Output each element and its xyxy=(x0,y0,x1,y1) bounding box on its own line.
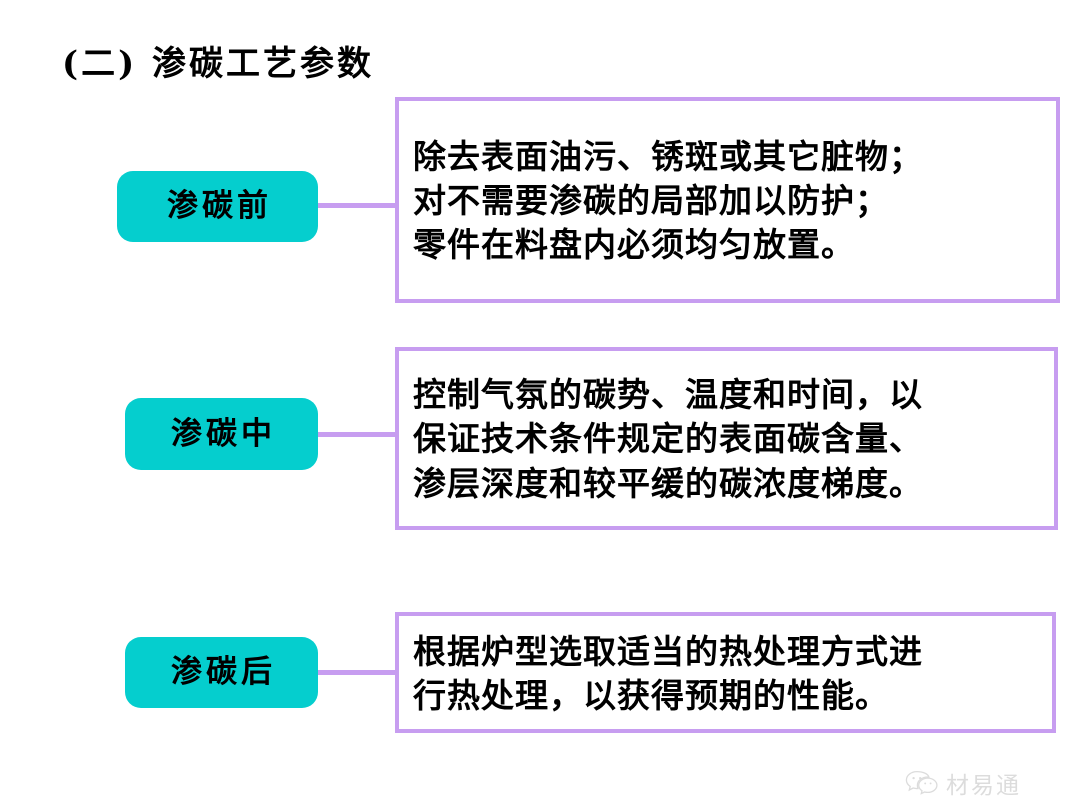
stage-pill-after-carburizing[interactable]: 渗碳后 xyxy=(125,637,318,708)
connector-line-2 xyxy=(318,670,397,675)
stage-pill-before-carburizing[interactable]: 渗碳前 xyxy=(117,171,318,242)
watermark: 材易通 xyxy=(905,766,1021,800)
detail-line: 零件在料盘内必须均匀放置。 xyxy=(413,223,1042,267)
stage-pill-label: 渗碳中 xyxy=(167,419,276,450)
connector-line-0 xyxy=(318,203,397,208)
detail-box-before-carburizing: 除去表面油污、锈斑或其它脏物； 对不需要渗碳的局部加以防护； 零件在料盘内必须均… xyxy=(395,97,1060,303)
detail-line: 根据炉型选取适当的热处理方式进 xyxy=(413,630,1038,674)
detail-line: 控制气氛的碳势、温度和时间，以 xyxy=(413,373,1040,417)
detail-box-during-carburizing: 控制气氛的碳势、温度和时间，以 保证技术条件规定的表面碳含量、 渗层深度和较平缓… xyxy=(395,347,1058,530)
slide-canvas: (二) 渗碳工艺参数 渗碳前 除去表面油污、锈斑或其它脏物； 对不需要渗碳的局部… xyxy=(0,0,1080,810)
detail-line: 对不需要渗碳的局部加以防护； xyxy=(413,179,1042,223)
stage-pill-label: 渗碳前 xyxy=(163,191,272,222)
detail-line: 行热处理，以获得预期的性能。 xyxy=(413,674,1038,718)
detail-line: 除去表面油污、锈斑或其它脏物； xyxy=(413,135,1042,179)
wechat-icon xyxy=(905,770,939,796)
page-title: (二) 渗碳工艺参数 xyxy=(62,36,374,85)
detail-box-after-carburizing: 根据炉型选取适当的热处理方式进 行热处理，以获得预期的性能。 xyxy=(395,612,1056,733)
stage-pill-label: 渗碳后 xyxy=(167,657,276,688)
stage-pill-during-carburizing[interactable]: 渗碳中 xyxy=(125,398,318,470)
detail-line: 渗层深度和较平缓的碳浓度梯度。 xyxy=(413,462,1040,506)
watermark-label: 材易通 xyxy=(946,766,1021,800)
detail-line: 保证技术条件规定的表面碳含量、 xyxy=(413,417,1040,461)
connector-line-1 xyxy=(318,432,397,437)
